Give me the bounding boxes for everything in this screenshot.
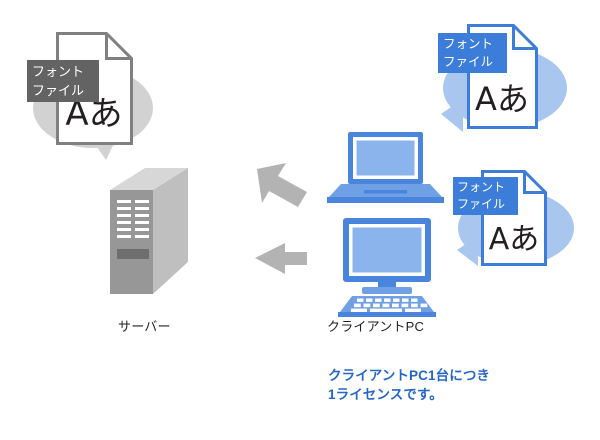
laptop-font-tag-line2: ファイル: [443, 54, 493, 69]
laptop-icon: [327, 132, 444, 203]
desktop-computer-icon: [338, 218, 436, 317]
server-font-tag-line2: ファイル: [32, 84, 84, 99]
server-font-tag-line1: フォント: [32, 65, 84, 80]
arrow-diagonal-to-server: [257, 163, 307, 207]
desktop-font-glyphs: Aあ: [489, 222, 540, 257]
server-tower-icon: [110, 168, 188, 294]
client-label: クライアントPC: [327, 316, 424, 335]
diagram-canvas: Aあ フォント ファイル: [0, 0, 600, 440]
license-note: クライアントPC1台につき 1ライセンスです。: [328, 366, 490, 404]
server-drive-bay: [117, 249, 149, 259]
laptop-trackpad: [364, 190, 407, 194]
desktop-screen: [353, 228, 422, 273]
desktop-font-tag-line2: ファイル: [457, 197, 505, 211]
laptop-font-tag-line1: フォント: [443, 36, 493, 51]
laptop-screen: [357, 141, 415, 176]
server-label: サーバー: [118, 316, 171, 335]
desktop-font-tag-line1: フォント: [457, 180, 505, 194]
arrow-horizontal-to-server: [255, 243, 307, 274]
laptop-font-glyphs: Aあ: [475, 80, 529, 118]
